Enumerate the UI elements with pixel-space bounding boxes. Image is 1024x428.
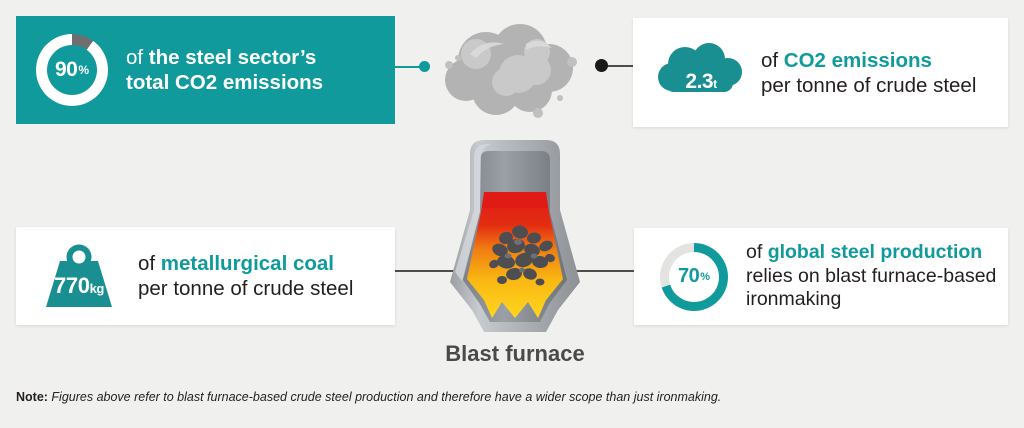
top-right-line2-plain: per tonne of crude steel <box>761 74 976 97</box>
cloud-value: 2.3 <box>685 70 713 93</box>
card-top-left-emissions-share: 90% of the steel sector’s total CO2 emis… <box>16 16 395 124</box>
blast-furnace-label: Blast furnace <box>390 341 640 367</box>
weight-icon-label: 770kg <box>42 273 116 299</box>
card-bottom-right-text: of global steel production relies on bla… <box>746 241 996 312</box>
connector-top-right-dot <box>595 59 608 72</box>
connector-top-left-dot <box>419 61 430 72</box>
smoke-cloud-illustration <box>440 18 590 123</box>
top-left-line1-plain: of <box>126 46 149 69</box>
top-left-line2-bold: total CO2 emissions <box>126 71 323 94</box>
bottom-left-line2-plain: per tonne of crude steel <box>138 277 353 300</box>
bottom-left-line1-plain: of <box>138 252 161 275</box>
cloud-icon-label: 2.3t <box>655 70 747 94</box>
cloud-unit: t <box>713 77 717 91</box>
card-top-right-co2-intensity: 2.3t of CO2 emissions per tonne of crude… <box>633 18 1008 127</box>
cloud-icon: 2.3t <box>655 42 747 104</box>
top-left-line1-bold: the steel sector’s <box>149 46 317 69</box>
bottom-right-line2-plain: relies on blast furnace-based <box>746 265 996 287</box>
donut-90-percent: 90% <box>36 34 108 106</box>
donut-70-value: 70 <box>678 265 699 288</box>
footnote: Note: Figures above refer to blast furna… <box>16 390 916 404</box>
top-right-line1-plain: of <box>761 49 784 72</box>
footnote-text: Figures above refer to blast furnace-bas… <box>48 390 721 404</box>
donut-70-unit: % <box>700 271 710 283</box>
card-top-left-text: of the steel sector’s total CO2 emission… <box>126 45 323 95</box>
bottom-right-line1-bold: global steel production <box>768 241 983 263</box>
card-bottom-left-text: of metallurgical coal per tonne of crude… <box>138 251 353 301</box>
card-bottom-right-bf-share: 70% of global steel production relies on… <box>634 228 1008 325</box>
weight-icon: 770kg <box>42 243 116 309</box>
donut-90-unit: % <box>78 63 89 77</box>
card-top-right-text: of CO2 emissions per tonne of crude stee… <box>761 48 976 98</box>
weight-unit: kg <box>90 281 104 296</box>
card-bottom-left-met-coal: 770kg of metallurgical coal per tonne of… <box>16 227 395 325</box>
bottom-left-line1-bold: metallurgical coal <box>161 252 334 275</box>
weight-value: 770 <box>54 273 90 298</box>
connector-top-right-line <box>606 65 634 67</box>
bottom-right-line3-plain: ironmaking <box>746 288 841 310</box>
infographic-canvas: 90% of the steel sector’s total CO2 emis… <box>0 0 1024 428</box>
footnote-label: Note: <box>16 390 48 404</box>
top-right-line1-bold: CO2 emissions <box>784 49 932 72</box>
donut-90-value: 90 <box>55 58 77 82</box>
blast-furnace-illustration <box>430 132 600 347</box>
bottom-right-line1-plain: of <box>746 241 768 263</box>
donut-70-percent: 70% <box>660 243 728 311</box>
